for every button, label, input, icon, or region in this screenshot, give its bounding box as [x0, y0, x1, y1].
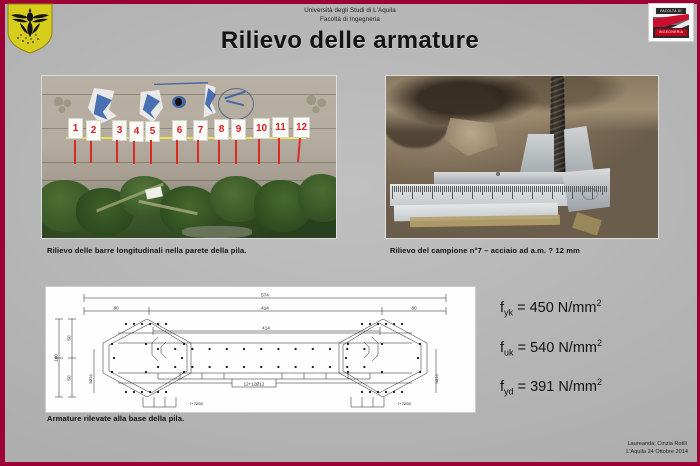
dim-lower-half: 50 — [66, 375, 71, 381]
formula-fyk: fyk = 450 N/mm2 — [500, 298, 685, 318]
page-title: Rilievo delle armature — [0, 27, 700, 55]
formula-unit: N/mm — [558, 300, 597, 316]
formula-value: 540 — [530, 340, 554, 356]
slide-accent-edge-bottom — [0, 462, 700, 466]
credit-author: Laureanda: Cinzia Rotili — [626, 440, 688, 448]
institution-header: Università degli Studi di L'Aquila Facol… — [0, 6, 700, 24]
formula-value: 450 — [530, 300, 554, 316]
caption-photo-caliper: Rilievo del campione n°7 – acciaio ad a.… — [390, 246, 580, 255]
institution-name: Università degli Studi di L'Aquila — [0, 6, 700, 15]
dim-left-flange: 80 — [113, 306, 119, 311]
formula-exponent: 2 — [597, 377, 602, 387]
marker-tag: 1 — [68, 118, 83, 139]
formula-subscript: yk — [504, 308, 513, 318]
label-left-stirrup: 7+7Ø30 — [189, 402, 203, 406]
marker-tag: 9 — [231, 119, 246, 140]
dim-right-flange: 80 — [411, 306, 417, 311]
marker-tag: 2 — [86, 120, 101, 141]
marker-tag: 10 — [253, 118, 270, 139]
marker-tag: 8 — [214, 119, 229, 140]
dim-middle-span: 414 — [261, 306, 269, 311]
marker-tag: 12 — [293, 117, 310, 138]
slide-credits: Laureanda: Cinzia Rotili L'Aquila 24 Ott… — [626, 440, 688, 456]
marker-tag: 7 — [193, 120, 208, 141]
label-right-stirrup: 7+7Ø30 — [397, 402, 411, 406]
marker-tag: 6 — [172, 120, 187, 141]
dim-upper-half: 50 — [66, 335, 71, 341]
caption-photo-pier-wall: Rilievo delle barre longitudinali nella … — [47, 246, 247, 255]
material-strength-values: fyk = 450 N/mm2 fuk = 540 N/mm2 fyd = 39… — [500, 298, 685, 417]
formula-fuk: fuk = 540 N/mm2 — [500, 338, 685, 358]
formula-exponent: 2 — [596, 298, 601, 308]
label-left-edge-bars: 5Ø16 — [89, 374, 93, 383]
photo-caliper-measurement — [386, 76, 658, 238]
dim-overall-height: 100 — [53, 354, 58, 362]
slide-accent-edge-left — [0, 0, 5, 466]
faculty-name: Facoltà di Ingegneria — [0, 15, 700, 24]
marker-tag: 5 — [145, 121, 160, 142]
formula-subscript: uk — [504, 347, 514, 357]
slide-accent-edge-top — [0, 0, 700, 4]
formula-operator: = — [518, 340, 526, 356]
credit-place-date: L'Aquila 24 Ottobre 2014 — [626, 448, 688, 456]
formula-value: 391 — [530, 379, 554, 395]
label-right-edge-bars: 5Ø16 — [435, 374, 439, 383]
formula-operator: = — [518, 379, 526, 395]
marker-tag: 4 — [129, 121, 144, 142]
formula-unit: N/mm — [558, 340, 597, 356]
formula-fyd: fyd = 391 N/mm2 — [500, 377, 685, 397]
photo-pier-wall: 1 2 3 4 5 6 7 8 9 10 11 12 — [42, 76, 336, 238]
formula-operator: = — [517, 300, 525, 316]
presentation-slide: FACOLTÀ DI INGEGNERIA Università degli S… — [0, 0, 700, 466]
dim-overall-width: 574 — [261, 293, 269, 298]
caption-drawing: Armature rilevate alla base della pila. — [47, 414, 184, 423]
marker-tag: 3 — [112, 120, 127, 141]
formula-subscript: yd — [504, 387, 514, 397]
label-web-rebar: 12+12Ø12 — [244, 381, 265, 386]
rebar-section-drawing: 574 80 414 80 414 12+12Ø12 7+7Ø30 7+7Ø30… — [45, 286, 476, 413]
formula-exponent: 2 — [597, 338, 602, 348]
formula-unit: N/mm — [558, 379, 597, 395]
dim-inner-span: 414 — [262, 326, 270, 331]
marker-tag: 11 — [272, 117, 289, 138]
